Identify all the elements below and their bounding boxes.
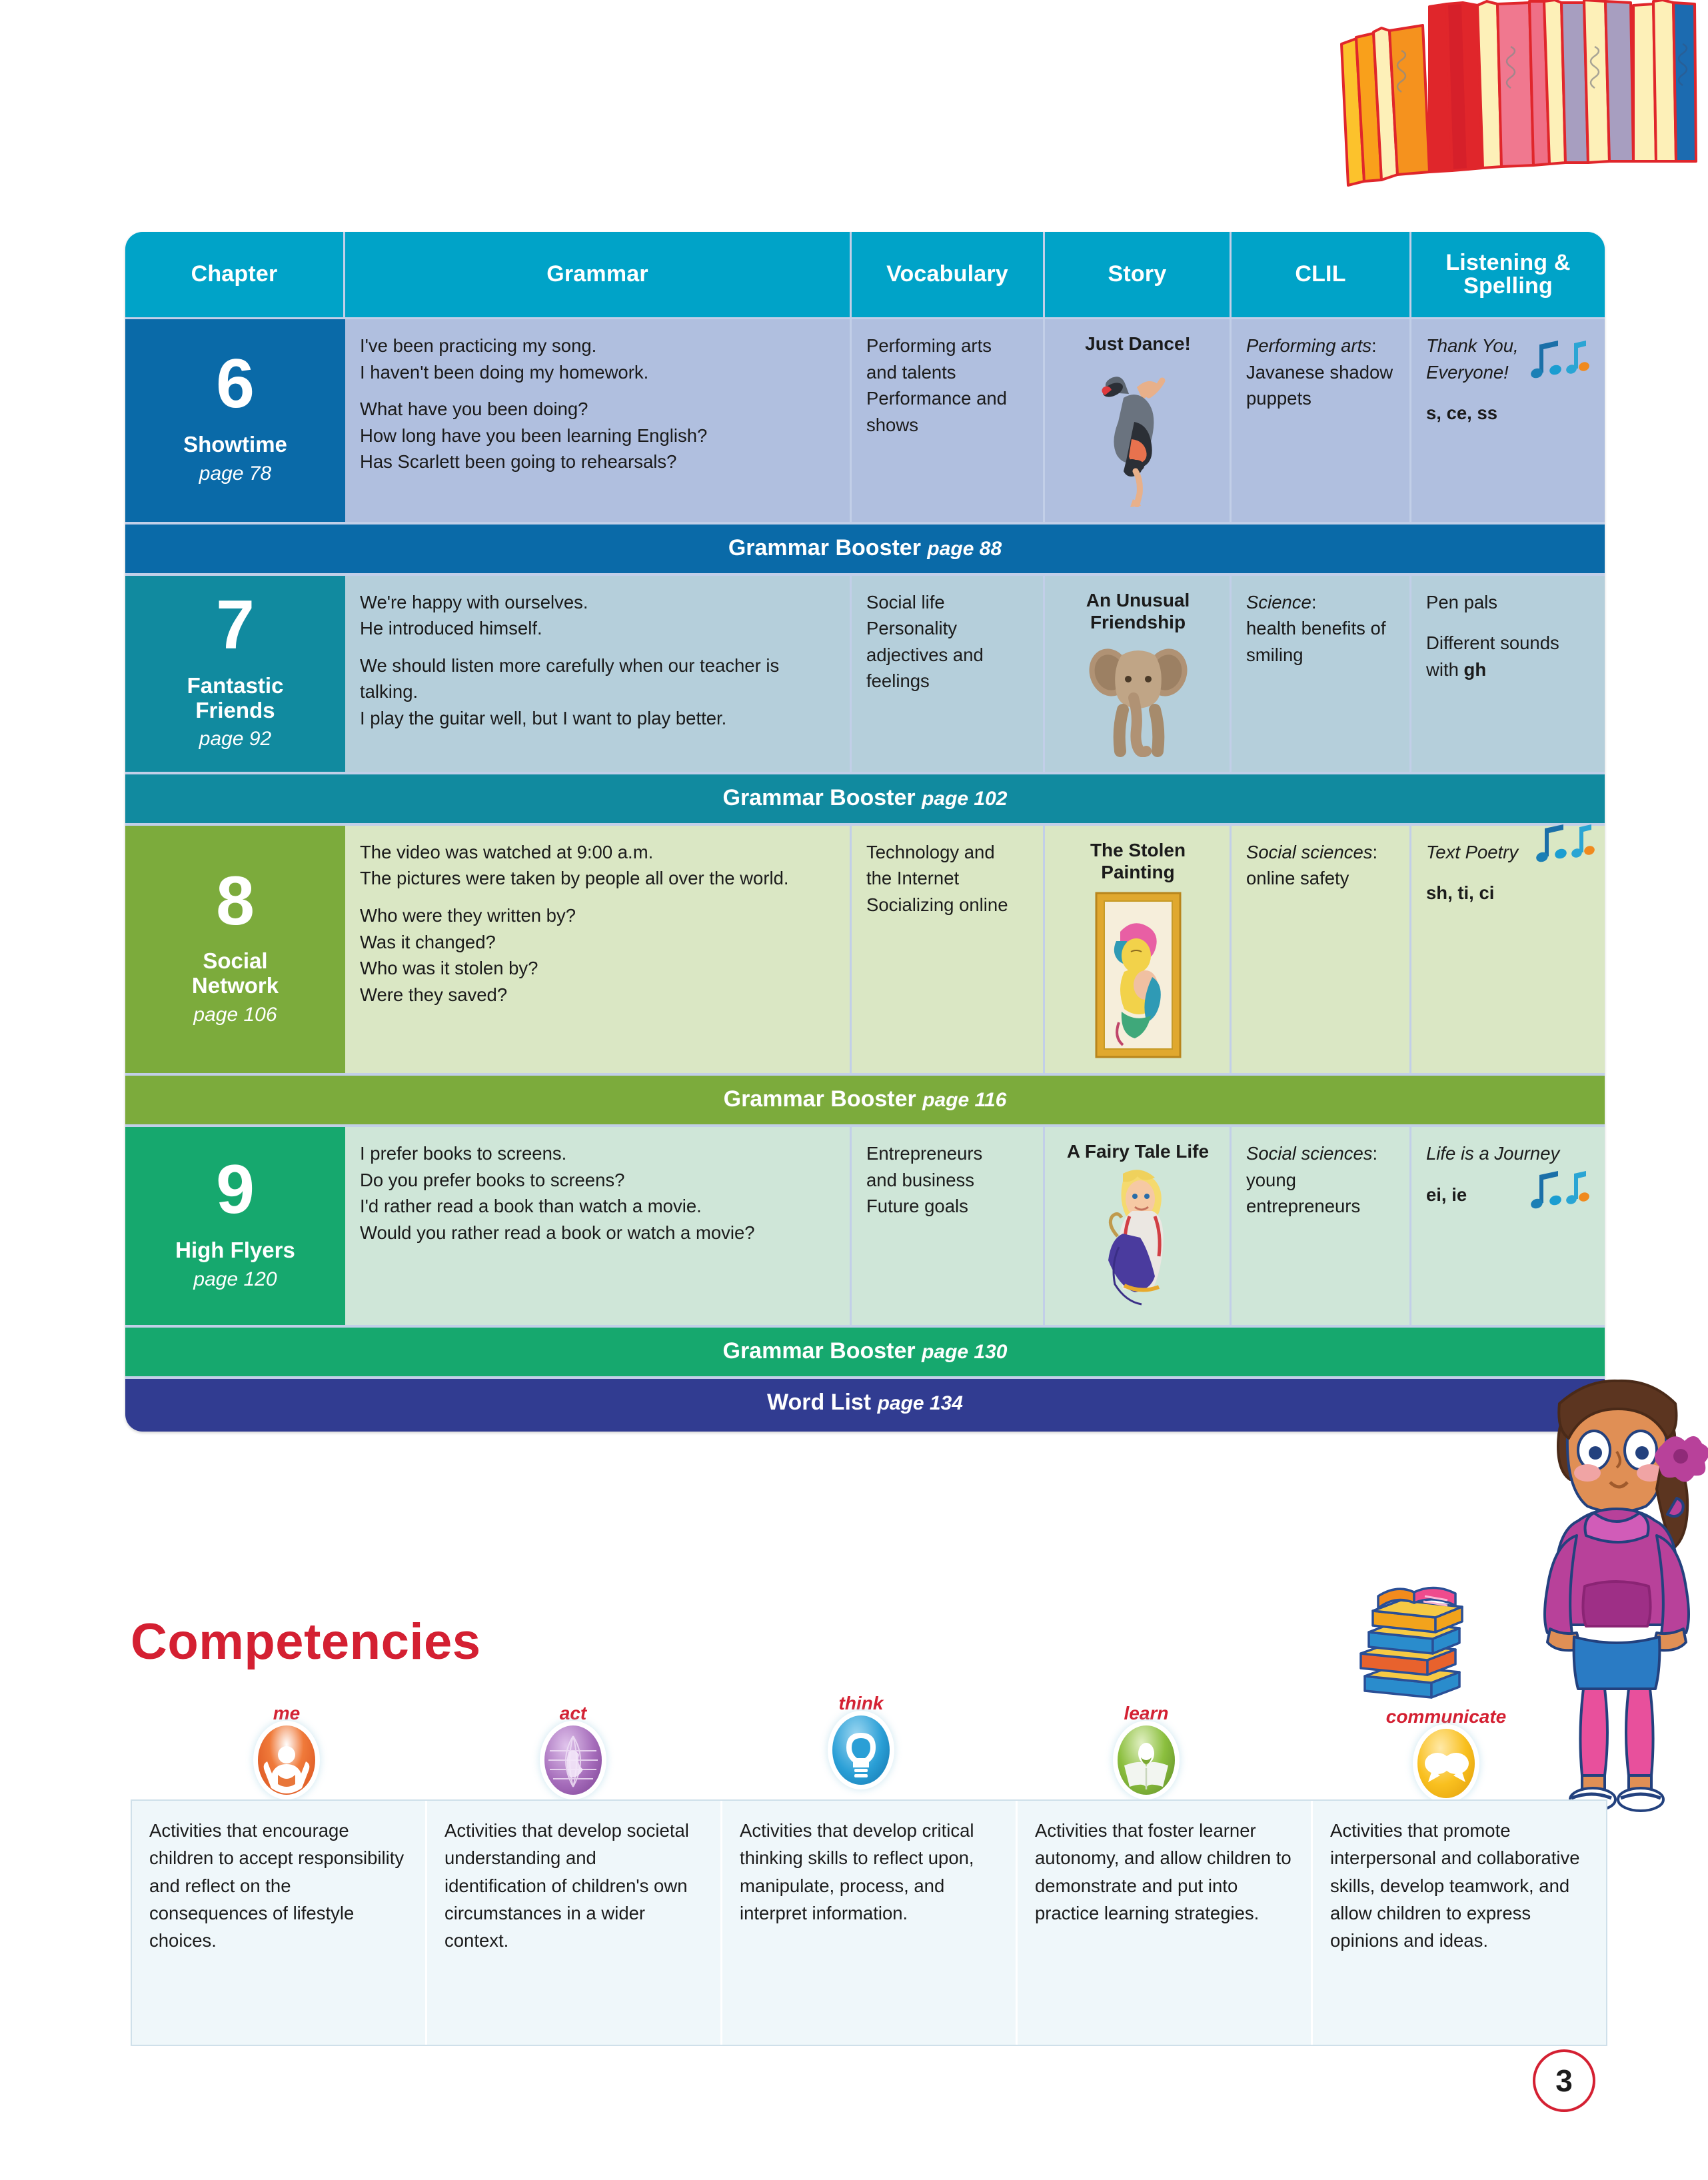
- competency-label: communicate: [1379, 1706, 1513, 1727]
- booster-label: Grammar Booster: [728, 535, 921, 560]
- booster-label: Grammar Booster: [724, 1086, 916, 1112]
- grammar-line: Were they saved?: [360, 982, 836, 1008]
- grammar-cell: I've been practicing my song. I haven't …: [345, 319, 852, 522]
- books-pile-illustration: [1353, 1576, 1506, 1709]
- grammar-line: I prefer books to screens.: [360, 1140, 836, 1167]
- column-header-vocabulary: Vocabulary: [852, 232, 1045, 317]
- table-row: 8 Social Network page 106 The video was …: [125, 826, 1605, 1073]
- spelling-sounds: gh: [1464, 659, 1487, 680]
- column-header-story: Story: [1045, 232, 1232, 317]
- chapter-title-line2: Friends: [195, 698, 275, 722]
- clil-cell: Science: health benefits of smiling: [1232, 576, 1411, 772]
- lightbulb-icon: [832, 1715, 890, 1785]
- competency-icon-communicate: communicate: [1379, 1706, 1513, 1798]
- chapter-page: page 92: [199, 728, 271, 750]
- chapter-title: High Flyers: [175, 1238, 295, 1263]
- column-header-grammar: Grammar: [345, 232, 852, 317]
- story-title: A Fairy Tale Life: [1060, 1140, 1216, 1163]
- chapter-tile: 6 Showtime page 78: [125, 319, 345, 522]
- chapter-page: page 106: [193, 1004, 277, 1026]
- clil-cell: Social sciences: young entrepreneurs: [1232, 1127, 1411, 1325]
- competency-label: act: [506, 1703, 640, 1724]
- competency-label: learn: [1080, 1703, 1213, 1724]
- vocabulary-line: Performing arts: [866, 333, 1030, 359]
- clil-detail: young entrepreneurs: [1246, 1167, 1396, 1220]
- competency-icon-learn: learn: [1080, 1703, 1213, 1795]
- word-list-label: Word List: [767, 1390, 871, 1415]
- clil-detail: online safety: [1246, 865, 1396, 892]
- grammar-line: I haven't been doing my homework.: [360, 359, 836, 386]
- listening-spelling-cell: Thank You, Everyone! s, ce, ss: [1411, 319, 1605, 522]
- chapter-tile: 7 Fantastic Friends page 92: [125, 576, 345, 772]
- vocabulary-line: shows: [866, 412, 1030, 439]
- grammar-line: The pictures were taken by people all ov…: [360, 865, 836, 892]
- chapter-title-line1: Fantastic: [187, 673, 284, 698]
- grammar-line: Who were they written by?: [360, 902, 836, 929]
- story-cell: A Fairy Tale Life: [1045, 1127, 1232, 1325]
- vocabulary-line: Personality: [866, 615, 1030, 642]
- competency-icon-act: act: [506, 1703, 640, 1795]
- vocabulary-line: Performance and: [866, 385, 1030, 412]
- grammar-line: Has Scarlett been going to rehearsals?: [360, 449, 836, 475]
- vocabulary-line: Entrepreneurs: [866, 1140, 1030, 1167]
- competency-description: Activities that encourage children to ac…: [132, 1801, 427, 2045]
- booster-label: Grammar Booster: [723, 1338, 916, 1364]
- competency-description-boxes: Activities that encourage children to ac…: [131, 1799, 1607, 2046]
- elephant-photo-icon: [1082, 640, 1195, 757]
- competency-description: Activities that promote interpersonal an…: [1313, 1801, 1606, 2045]
- vocabulary-line: Technology and: [866, 839, 1030, 866]
- listening-title: Pen pals: [1426, 589, 1591, 616]
- grammar-line: How long have you been learning English?: [360, 423, 836, 449]
- music-notes-icon: [1527, 1166, 1594, 1226]
- story-cell: The StolenPainting: [1045, 826, 1232, 1073]
- story-title: The StolenPainting: [1060, 839, 1216, 884]
- vocabulary-line: adjectives and: [866, 642, 1030, 668]
- grammar-line: I've been practicing my song.: [360, 333, 836, 359]
- vocabulary-line: Socializing online: [866, 892, 1030, 918]
- grammar-line: We should listen more carefully when our…: [360, 652, 836, 705]
- competencies-title: Competencies: [131, 1613, 481, 1671]
- framed-painting-icon: [1095, 892, 1182, 1058]
- story-title: Just Dance!: [1060, 333, 1216, 355]
- booster-page: page 116: [922, 1089, 1006, 1111]
- column-header-chapter: Chapter: [125, 232, 345, 317]
- chapter-title: Social Network: [192, 949, 279, 998]
- booster-label: Grammar Booster: [723, 785, 916, 810]
- grammar-line: Do you prefer books to screens?: [360, 1167, 836, 1194]
- competency-description: Activities that develop societal underst…: [427, 1801, 722, 2045]
- grammar-cell: We're happy with ourselves. He introduce…: [345, 576, 852, 772]
- chapter-title-line2: Network: [192, 973, 279, 998]
- grammar-booster-bar: Grammar Booster page 116: [125, 1073, 1605, 1127]
- grammar-line: The video was watched at 9:00 a.m.: [360, 839, 836, 866]
- competency-icon-me: me: [220, 1703, 353, 1795]
- chapter-number: 9: [216, 1158, 255, 1222]
- clil-subject: Performing arts: [1246, 335, 1371, 356]
- word-list-page: page 134: [878, 1392, 963, 1414]
- competency-icon-think: think: [794, 1693, 928, 1785]
- grammar-line: What have you been doing?: [360, 396, 836, 423]
- vocabulary-cell: Entrepreneurs and business Future goals: [852, 1127, 1045, 1325]
- chapter-page: page 120: [193, 1268, 277, 1291]
- spelling-sounds-prefix: Different sounds with: [1426, 632, 1559, 680]
- booster-page: page 102: [922, 788, 1007, 810]
- grammar-line: Was it changed?: [360, 929, 836, 956]
- chapter-tile: 8 Social Network page 106: [125, 826, 345, 1073]
- column-header-clil: CLIL: [1232, 232, 1411, 317]
- grammar-booster-bar: Grammar Booster page 102: [125, 772, 1605, 826]
- listening-title: Life is a Journey: [1426, 1140, 1591, 1167]
- clil-cell: Social sciences: online safety: [1232, 826, 1411, 1073]
- competency-label: me: [220, 1703, 353, 1724]
- listening-spelling-cell: Text Poetry sh, ti, ci: [1411, 826, 1605, 1073]
- booster-page: page 88: [927, 538, 1002, 560]
- grammar-cell: The video was watched at 9:00 a.m. The p…: [345, 826, 852, 1073]
- music-notes-icon: [1533, 819, 1599, 880]
- books-shelf-illustration: [1329, 0, 1703, 187]
- clil-subject: Social sciences: [1246, 1143, 1373, 1164]
- vocabulary-line: the Internet: [866, 865, 1030, 892]
- music-notes-icon: [1527, 335, 1594, 396]
- girl-character-illustration: [1519, 1373, 1708, 1839]
- clil-detail: Javanese shadow puppets: [1246, 359, 1396, 412]
- table-row: 6 Showtime page 78 I've been practicing …: [125, 319, 1605, 522]
- princess-photo-icon: [1083, 1167, 1193, 1310]
- grammar-booster-bar: Grammar Booster page 130: [125, 1325, 1605, 1379]
- grammar-booster-bar: Grammar Booster page 88: [125, 522, 1605, 576]
- competency-description: Activities that develop critical thinkin…: [722, 1801, 1018, 2045]
- column-header-listening-spelling: Listening & Spelling: [1411, 232, 1605, 317]
- globe-icon: [544, 1725, 602, 1795]
- grammar-line: I play the guitar well, but I want to pl…: [360, 705, 836, 732]
- grammar-line: Who was it stolen by?: [360, 955, 836, 982]
- listening-spelling-cell: Life is a Journey ei, ie: [1411, 1127, 1605, 1325]
- chapter-tile: 9 High Flyers page 120: [125, 1127, 345, 1325]
- table-row: 9 High Flyers page 120 I prefer books to…: [125, 1127, 1605, 1325]
- story-cell: An Unusual Friendship: [1045, 576, 1232, 772]
- clil-subject: Social sciences: [1246, 842, 1373, 862]
- speech-bubbles-icon: [1417, 1729, 1475, 1798]
- booster-page: page 130: [922, 1341, 1007, 1363]
- clil-subject: Science: [1246, 592, 1311, 612]
- chapter-title: Fantastic Friends: [187, 674, 284, 723]
- vocabulary-line: and talents: [866, 359, 1030, 386]
- table-row: 7 Fantastic Friends page 92 We're happy …: [125, 576, 1605, 772]
- vocabulary-line: and business: [866, 1167, 1030, 1194]
- breakdancer-photo-icon: [1085, 361, 1192, 507]
- grammar-cell: I prefer books to screens. Do you prefer…: [345, 1127, 852, 1325]
- chapter-number: 7: [216, 594, 255, 658]
- competency-description: Activities that foster learner autonomy,…: [1018, 1801, 1313, 2045]
- grammar-line: We're happy with ourselves.: [360, 589, 836, 616]
- scope-and-sequence-table: Chapter Grammar Vocabulary Story CLIL Li…: [125, 232, 1605, 1432]
- chapter-title-line1: Social: [203, 948, 267, 973]
- vocabulary-cell: Social life Personality adjectives and f…: [852, 576, 1045, 772]
- vocabulary-line: feelings: [866, 668, 1030, 694]
- chapter-number: 6: [216, 353, 255, 417]
- open-book-person-icon: [1118, 1725, 1175, 1795]
- chapter-title: Showtime: [183, 433, 287, 457]
- vocabulary-cell: Technology and the Internet Socializing …: [852, 826, 1045, 1073]
- story-cell: Just Dance!: [1045, 319, 1232, 522]
- chapter-page: page 78: [199, 463, 271, 485]
- vocabulary-line: Future goals: [866, 1193, 1030, 1220]
- word-list-bar: Word List page 134: [125, 1379, 1605, 1432]
- grammar-line: Would you rather read a book or watch a …: [360, 1220, 836, 1246]
- table-header-row: Chapter Grammar Vocabulary Story CLIL Li…: [125, 232, 1605, 319]
- spelling-sounds: sh, ti, ci: [1426, 880, 1591, 906]
- listening-header-line2: Spelling: [1463, 273, 1553, 299]
- story-title: An Unusual Friendship: [1060, 589, 1216, 634]
- listening-spelling-cell: Pen pals Different sounds with gh: [1411, 576, 1605, 772]
- chapter-number: 8: [216, 870, 255, 934]
- vocabulary-line: Social life: [866, 589, 1030, 616]
- clil-cell: Performing arts: Javanese shadow puppets: [1232, 319, 1411, 522]
- grammar-line: He introduced himself.: [360, 615, 836, 642]
- page-number: 3: [1533, 2049, 1595, 2112]
- vocabulary-cell: Performing arts and talents Performance …: [852, 319, 1045, 522]
- listening-header-line1: Listening &: [1445, 250, 1570, 275]
- spelling-sounds: s, ce, ss: [1426, 400, 1591, 427]
- person-arms-up-icon: [258, 1725, 315, 1795]
- grammar-line: I'd rather read a book than watch a movi…: [360, 1193, 836, 1220]
- competency-label: think: [794, 1693, 928, 1714]
- clil-detail: health benefits of smiling: [1246, 615, 1396, 668]
